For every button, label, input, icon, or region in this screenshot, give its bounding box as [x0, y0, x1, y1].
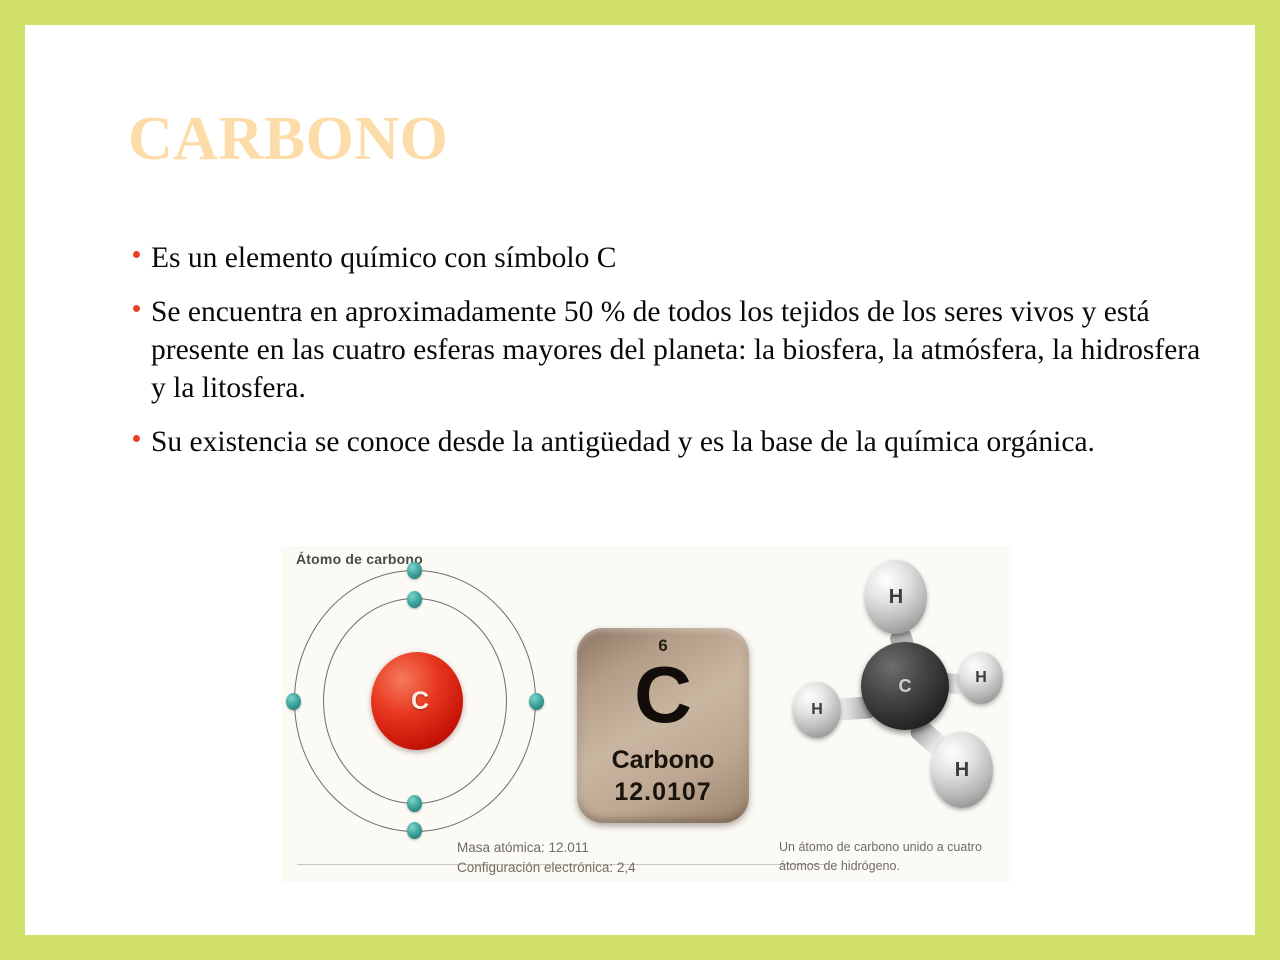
hydrogen-atom-sphere: H	[865, 560, 927, 634]
hydrogen-atom-sphere: H	[793, 682, 841, 738]
electron-dot	[529, 693, 544, 710]
element-symbol: C	[577, 652, 749, 738]
figure-caption-right: Un átomo de carbono unido a cuatro átomo…	[779, 838, 1009, 876]
slide-canvas: CARBONO Es un elemento químico con símbo…	[25, 25, 1255, 935]
figure-caption-left-line2: Configuración electrónica: 2,4	[457, 858, 636, 878]
carbon-atom-sphere: C	[861, 642, 949, 730]
bullet-list: Es un elemento químico con símbolo C Se …	[129, 239, 1219, 461]
atomic-weight: 12.0107	[577, 778, 749, 807]
element-name: Carbono	[577, 746, 749, 775]
electron-dot	[407, 562, 422, 579]
list-item: Es un elemento químico con símbolo C	[129, 239, 1219, 277]
list-item: Su existencia se conoce desde la antigüe…	[129, 423, 1219, 461]
hydrogen-atom-sphere: H	[959, 652, 1003, 704]
list-item-text: Es un elemento químico con símbolo C	[151, 239, 1219, 277]
nucleus-sphere: C	[371, 652, 463, 750]
electron-dot	[286, 693, 301, 710]
slide-border: CARBONO Es un elemento químico con símbo…	[0, 0, 1280, 960]
list-item-text: Se encuentra en aproximadamente 50 % de …	[151, 293, 1219, 407]
hydrogen-atom-sphere: H	[931, 732, 993, 808]
list-item-text: Su existencia se conoce desde la antigüe…	[151, 423, 1219, 461]
list-item: Se encuentra en aproximadamente 50 % de …	[129, 293, 1219, 407]
electron-dot	[407, 822, 422, 839]
figure-caption-left: Masa atómica: 12.011 Configuración elect…	[457, 838, 636, 878]
element-tile: 6 C Carbono 12.0107	[577, 628, 749, 823]
electron-dot	[407, 795, 422, 812]
figure-caption-left-line1: Masa atómica: 12.011	[457, 838, 636, 858]
carbon-figure-image: Átomo de carbono C 6 C Carbono	[281, 546, 1012, 882]
nucleus-label: C	[371, 652, 463, 750]
bullet-dot-icon	[133, 305, 140, 312]
bohr-atom-diagram: C	[281, 564, 551, 839]
bullet-dot-icon	[133, 435, 140, 442]
page-title: CARBONO	[128, 107, 448, 172]
methane-molecule-model: H H H H C	[791, 554, 1011, 839]
electron-dot	[407, 591, 422, 608]
bullet-dot-icon	[133, 251, 140, 258]
